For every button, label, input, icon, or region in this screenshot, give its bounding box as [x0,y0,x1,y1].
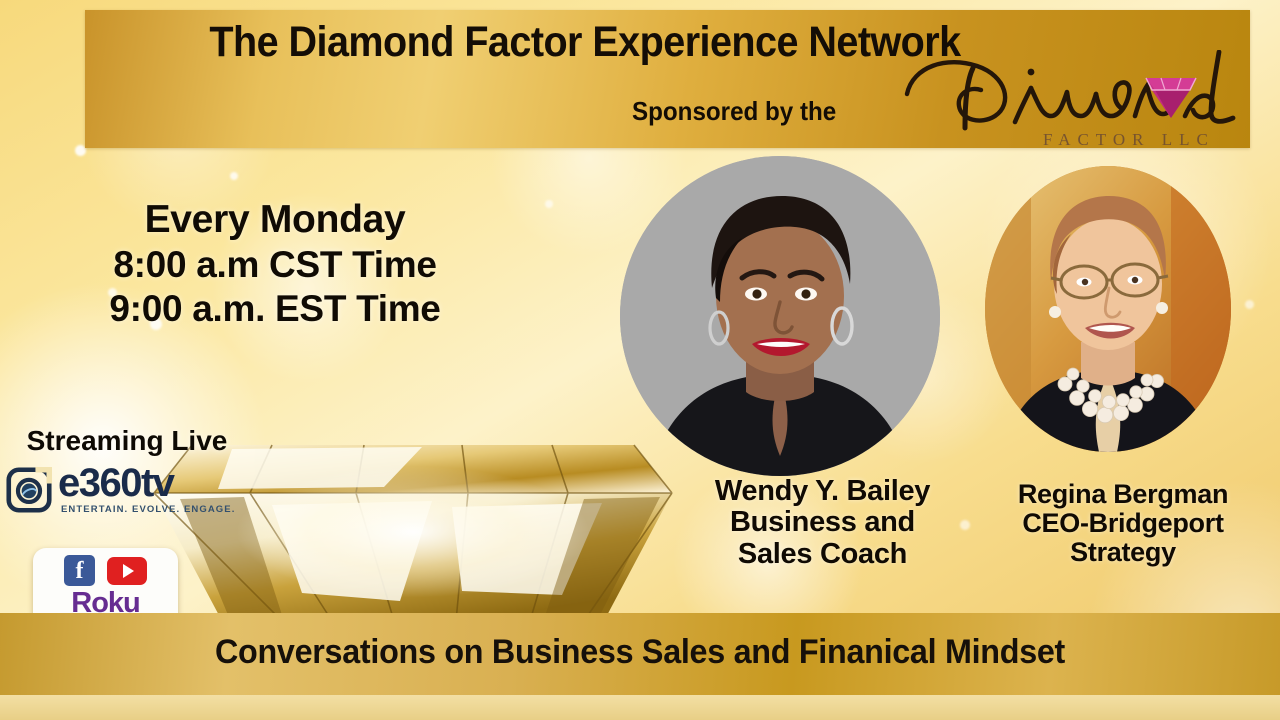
speaker-caption-regina: Regina Bergman CEO-Bridgeport Strategy [978,480,1268,567]
sponsor-label: Sponsored by the [632,96,836,127]
speaker-name: Wendy Y. Bailey [660,476,985,507]
speaker-name: Regina Bergman [978,480,1268,509]
e360tv-camera-icon [6,467,52,513]
footer-tagline: Conversations on Business Sales and Fina… [32,633,1248,672]
promo-graphic: The Diamond Factor Experience Network Sp… [0,0,1280,720]
speaker-title-line1: CEO-Bridgeport [978,509,1268,538]
schedule-block: Every Monday 8:00 a.m CST Time 9:00 a.m.… [45,200,505,327]
sparkle-dot [230,172,238,180]
speaker-title-line2: Strategy [978,538,1268,567]
e360tv-logo: e360tv ENTERTAIN. EVOLVE. ENGAGE. [6,463,196,521]
footer-banner: Conversations on Business Sales and Fina… [0,613,1280,695]
facebook-icon[interactable]: f [64,555,95,586]
sparkle-dot [545,200,553,208]
diamond-script-wordmark [903,50,1273,140]
speaker-caption-wendy: Wendy Y. Bailey Business and Sales Coach [660,476,985,570]
speaker-photo-wendy [620,156,940,476]
e360tv-tagline: ENTERTAIN. EVOLVE. ENGAGE. [61,504,235,515]
diamond-factor-logo: FACTOR LLC [903,50,1273,158]
bottom-edge-strip [0,695,1280,720]
sparkle-dot [1245,300,1254,309]
speaker-title-line1: Business and [660,507,985,538]
speaker-photo-regina [985,166,1231,452]
logo-subtitle: FACTOR LLC [1043,130,1215,150]
youtube-icon[interactable] [107,557,147,585]
header-banner: The Diamond Factor Experience Network Sp… [85,10,1250,148]
schedule-time-est: 9:00 a.m. EST Time [45,290,505,328]
streaming-live-label: Streaming Live [12,425,242,457]
e360tv-wordmark: e360tv [58,461,174,506]
speaker-title-line2: Sales Coach [660,539,985,570]
schedule-day: Every Monday [45,200,505,240]
schedule-time-cst: 8:00 a.m CST Time [45,246,505,284]
